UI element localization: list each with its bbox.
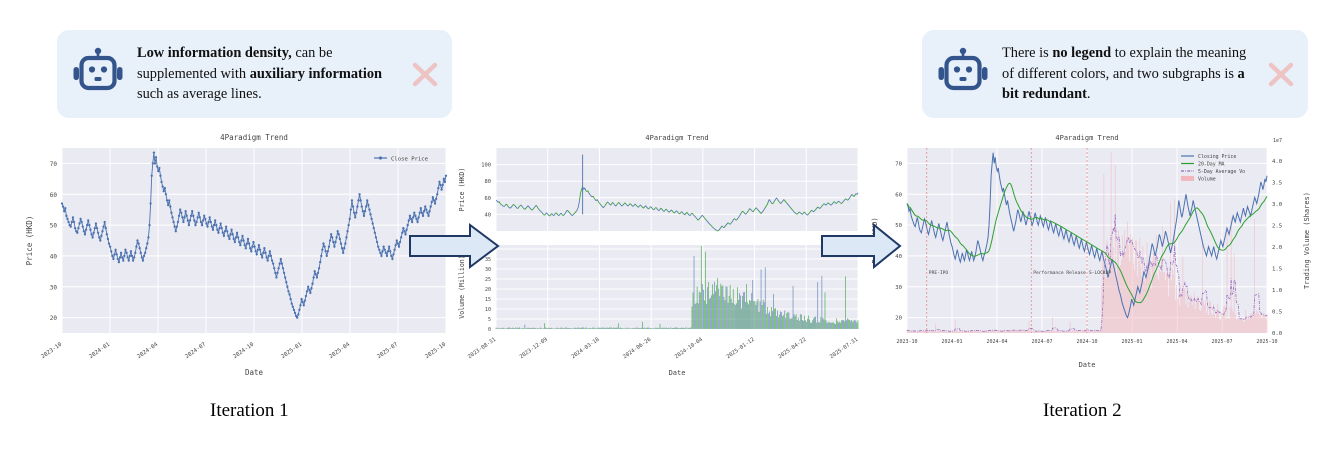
svg-text:0.0: 0.0 <box>1272 331 1282 337</box>
cross-icon <box>408 57 442 91</box>
svg-text:5-Day Average Vo: 5-Day Average Vo <box>1198 169 1245 175</box>
svg-text:2025-04-22: 2025-04-22 <box>777 337 807 361</box>
svg-text:2024-04: 2024-04 <box>136 341 159 360</box>
svg-text:Performance Release: Performance Release <box>1033 270 1086 276</box>
svg-text:2024-04: 2024-04 <box>986 339 1007 345</box>
iteration-2-chart-svg: 4Paradigm Trend406080100Price (HKD)05101… <box>450 126 870 381</box>
svg-text:2023-10: 2023-10 <box>896 339 917 345</box>
svg-text:2025-07: 2025-07 <box>1211 339 1232 345</box>
svg-text:20: 20 <box>895 316 902 322</box>
svg-text:70: 70 <box>895 161 902 167</box>
svg-text:30: 30 <box>50 284 58 291</box>
svg-text:1e7: 1e7 <box>1273 138 1282 144</box>
svg-text:Closing Price: Closing Price <box>1198 154 1236 160</box>
svg-text:2024-06-26: 2024-06-26 <box>622 337 652 361</box>
caption-iteration-1: Iteration 1 <box>210 400 289 422</box>
svg-text:Date: Date <box>245 368 264 377</box>
svg-text:4Paradigm Trend: 4Paradigm Trend <box>1055 134 1118 142</box>
iteration-3-chart: 4Paradigm TrendPRE-IPOPerformance Releas… <box>865 126 1317 381</box>
svg-text:5: 5 <box>488 317 491 323</box>
svg-text:20: 20 <box>50 315 58 322</box>
svg-text:25: 25 <box>485 277 491 283</box>
svg-text:0: 0 <box>488 327 491 333</box>
svg-text:2025-01: 2025-01 <box>280 342 303 360</box>
iteration-1-chart-svg: 4Paradigm Trend2030405060702023-102024-0… <box>20 126 460 381</box>
svg-text:4.0: 4.0 <box>1272 159 1282 165</box>
svg-text:Price (HKD): Price (HKD) <box>458 168 466 212</box>
flow-arrow-1-to-2 <box>408 222 500 270</box>
flow-arrow-2-to-3 <box>820 222 902 270</box>
svg-text:60: 60 <box>50 192 58 199</box>
svg-text:Trading Volume (Shares): Trading Volume (Shares) <box>1303 192 1311 289</box>
svg-text:20-Day MA: 20-Day MA <box>1198 162 1225 168</box>
svg-text:10: 10 <box>485 307 491 313</box>
svg-text:20: 20 <box>485 287 491 293</box>
svg-text:2024-10: 2024-10 <box>232 342 255 360</box>
svg-text:2024-01: 2024-01 <box>88 342 111 360</box>
svg-text:100: 100 <box>481 163 491 169</box>
svg-text:40: 40 <box>50 253 58 260</box>
svg-text:Volume: Volume <box>1198 177 1216 183</box>
svg-text:2023-08-31: 2023-08-31 <box>467 337 497 361</box>
svg-text:2024-07: 2024-07 <box>1031 339 1052 345</box>
svg-text:2025-04: 2025-04 <box>328 341 351 360</box>
robot-icon <box>71 45 125 104</box>
svg-text:60: 60 <box>485 196 492 202</box>
svg-text:40: 40 <box>485 212 492 218</box>
svg-text:Close Price: Close Price <box>391 156 429 162</box>
iteration-1-chart: 4Paradigm Trend2030405060702023-102024-0… <box>20 126 460 381</box>
svg-text:80: 80 <box>485 179 492 185</box>
svg-text:2023-12-09: 2023-12-09 <box>519 337 549 361</box>
svg-text:4Paradigm Trend: 4Paradigm Trend <box>645 134 708 142</box>
svg-text:2025-07: 2025-07 <box>376 342 399 360</box>
iteration-2-chart: 4Paradigm Trend406080100Price (HKD)05101… <box>450 126 870 381</box>
svg-text:70: 70 <box>50 161 58 168</box>
svg-text:2025-04: 2025-04 <box>1166 339 1187 345</box>
svg-text:2024-03-18: 2024-03-18 <box>571 337 601 361</box>
svg-text:15: 15 <box>485 297 491 303</box>
svg-text:4Paradigm Trend: 4Paradigm Trend <box>220 133 288 142</box>
svg-text:2024-07: 2024-07 <box>184 342 207 360</box>
svg-text:2025-01-12: 2025-01-12 <box>726 337 756 361</box>
svg-text:30: 30 <box>895 285 902 291</box>
svg-text:1.5: 1.5 <box>1272 266 1282 272</box>
svg-text:0.5: 0.5 <box>1272 309 1282 315</box>
iteration-2-panel: There is no legend to explain the meanin… <box>440 0 880 453</box>
iteration-3-panel: The entire chart is qualified as a chart… <box>865 0 1317 453</box>
svg-text:2025-01: 2025-01 <box>1121 339 1142 345</box>
svg-text:2025-10: 2025-10 <box>1256 339 1277 345</box>
svg-text:2023-10: 2023-10 <box>40 342 63 360</box>
svg-text:1.0: 1.0 <box>1272 288 1282 294</box>
svg-text:2024-01: 2024-01 <box>941 339 962 345</box>
svg-text:2.5: 2.5 <box>1272 223 1282 229</box>
svg-text:Date: Date <box>1079 361 1096 369</box>
callout-iteration-1: Low information density, can be suppleme… <box>57 30 452 118</box>
svg-text:2024-10-04: 2024-10-04 <box>674 337 704 361</box>
iteration-3-chart-svg: 4Paradigm TrendPRE-IPOPerformance Releas… <box>865 126 1317 381</box>
svg-text:Price (HKD): Price (HKD) <box>25 216 34 266</box>
svg-text:2.0: 2.0 <box>1272 245 1282 251</box>
svg-text:60: 60 <box>895 192 902 198</box>
svg-text:S-LOCKUP: S-LOCKUP <box>1089 270 1111 276</box>
svg-text:3.5: 3.5 <box>1272 180 1282 186</box>
svg-text:50: 50 <box>50 223 58 230</box>
svg-text:2024-10: 2024-10 <box>1076 339 1097 345</box>
svg-text:3.0: 3.0 <box>1272 202 1282 208</box>
svg-text:Date: Date <box>669 369 686 377</box>
iteration-1-panel: Low information density, can be suppleme… <box>0 0 470 453</box>
callout-text: Low information density, can be suppleme… <box>137 43 404 104</box>
svg-text:PRE-IPO: PRE-IPO <box>929 270 949 276</box>
svg-text:2025-07-31: 2025-07-31 <box>829 337 859 361</box>
